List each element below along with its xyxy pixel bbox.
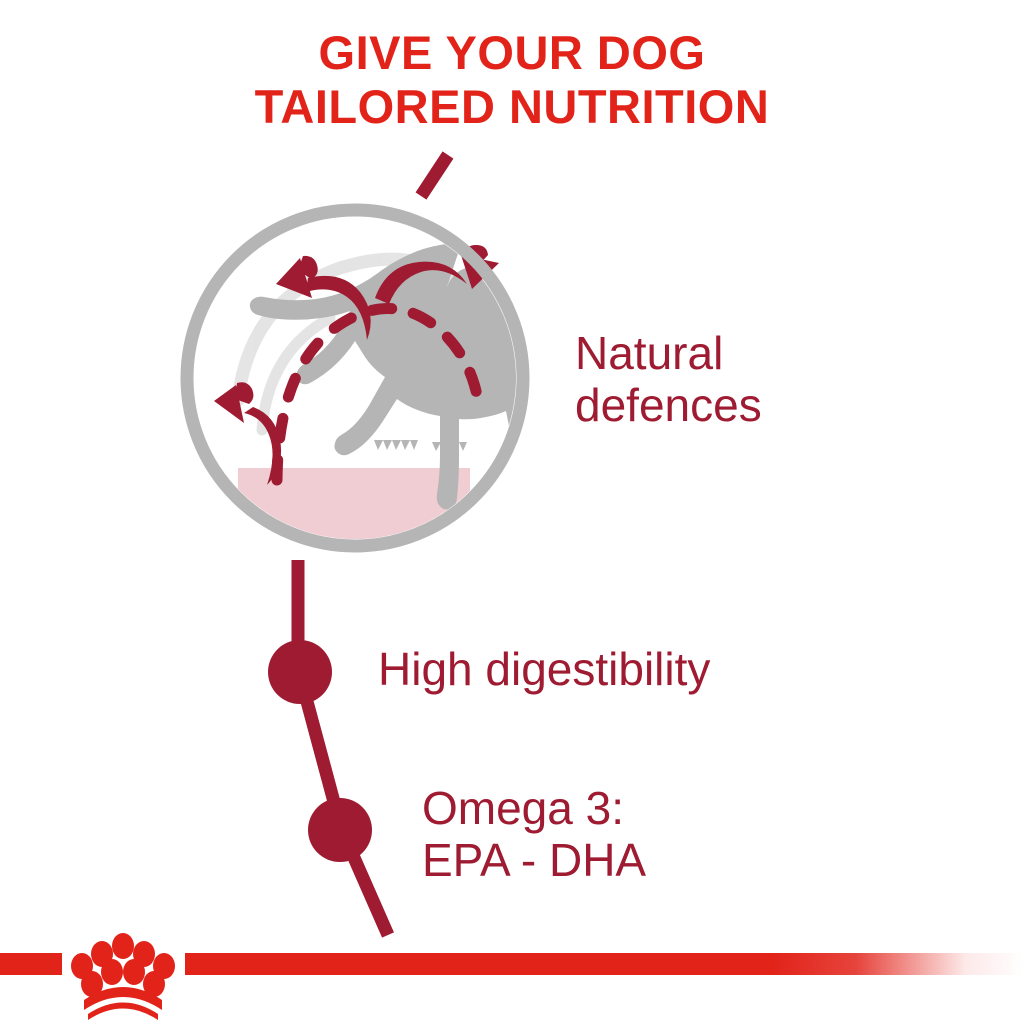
benefit-connector-line (268, 560, 388, 935)
dog-silhouette (250, 202, 533, 516)
footer-bar-left (0, 953, 62, 975)
protective-dashed-arc (277, 309, 478, 481)
connector-top-stem (421, 155, 448, 196)
footer-band (0, 900, 1024, 1024)
benefit-label-high-digestibility: High digestibility (378, 643, 710, 695)
defence-arrow-middle (276, 256, 371, 340)
icon-ring (187, 210, 523, 546)
defence-arrow-right (375, 245, 499, 304)
headline-line-1: GIVE YOUR DOG (0, 26, 1024, 80)
defence-arrows (214, 245, 499, 485)
headline-line-2: TAILORED NUTRITION (0, 80, 1024, 134)
background-swirl-decor (238, 259, 470, 430)
dog-natural-defences-icon (187, 202, 533, 558)
pink-ground-ellipse (238, 468, 470, 558)
benefit-label-omega-3: Omega 3: EPA - DHA (422, 782, 646, 886)
page-title: GIVE YOUR DOG TAILORED NUTRITION (0, 26, 1024, 134)
defence-arrow-left (214, 382, 281, 485)
poster-canvas: GIVE YOUR DOG TAILORED NUTRITION (0, 0, 1024, 1024)
benefit-label-natural-defences: Natural defences (575, 327, 762, 431)
benefit-dot-omega-3 (308, 798, 372, 862)
benefit-dot-high-digestibility (268, 640, 332, 704)
royal-canin-crown-icon (71, 933, 175, 1020)
footer-bar-right (185, 953, 1024, 975)
